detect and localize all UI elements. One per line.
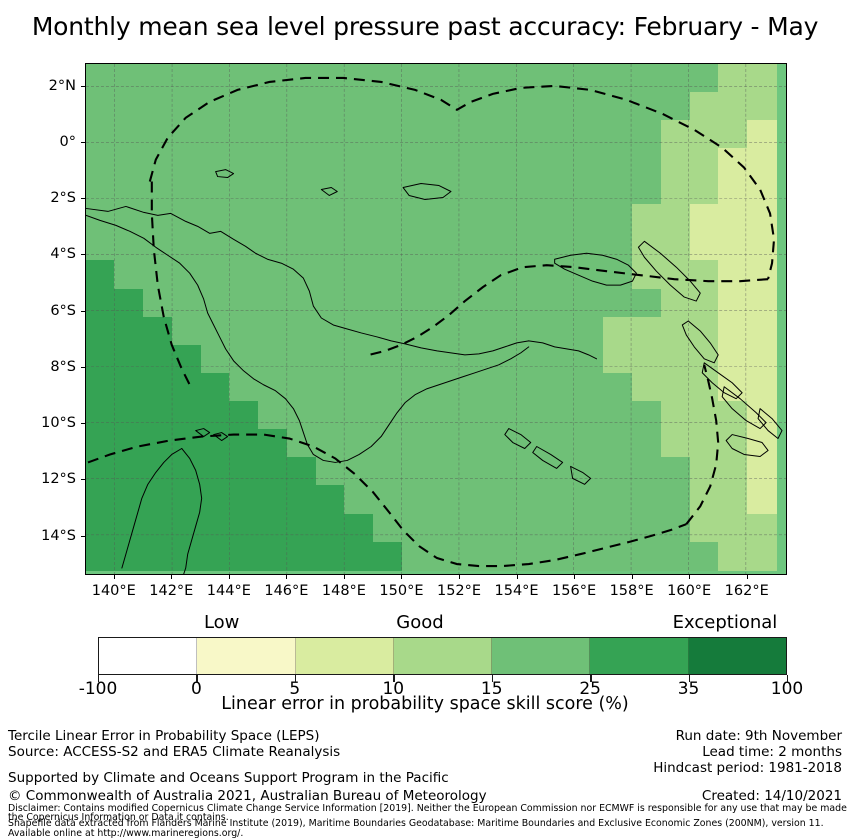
- heatmap-cell: [114, 148, 144, 177]
- heatmap-cell: [344, 429, 374, 458]
- heatmap-cell: [718, 373, 748, 402]
- heatmap-cell: [661, 429, 691, 458]
- heatmap-cell: [460, 429, 490, 458]
- heatmap-cell: [575, 260, 605, 289]
- heatmap-cell: [316, 457, 346, 486]
- x-axis-tick-mark: [286, 575, 287, 579]
- heatmap-cell: [344, 232, 374, 261]
- heatmap-cell: [373, 317, 403, 346]
- heatmap-cell: [402, 260, 432, 289]
- heatmap-cell: [575, 542, 605, 571]
- heatmap-cell: [690, 485, 720, 514]
- y-axis-tick-mark: [81, 536, 85, 537]
- heatmap-cell: [603, 232, 633, 261]
- heatmap-cell: [287, 176, 317, 205]
- x-axis-tick-mark: [114, 575, 115, 579]
- heatmap-cell: [402, 345, 432, 374]
- heatmap-cell: [747, 204, 777, 233]
- heatmap-cell: [690, 373, 720, 402]
- heatmap-cell: [229, 260, 259, 289]
- heatmap-cell: [488, 64, 518, 93]
- heatmap-cell: [143, 120, 173, 149]
- heatmap-cell: [661, 542, 691, 571]
- heatmap-cell: [747, 232, 777, 261]
- heatmap-cell: [373, 120, 403, 149]
- heatmap-cell: [229, 289, 259, 318]
- heatmap-cell: [546, 232, 576, 261]
- heatmap-cell: [460, 345, 490, 374]
- heatmap-cell: [402, 289, 432, 318]
- heatmap-cell: [431, 401, 461, 430]
- heatmap-cell: [229, 514, 259, 543]
- heatmap-cell: [460, 260, 490, 289]
- heatmap-cell: [488, 120, 518, 149]
- heatmap-cell: [201, 176, 231, 205]
- heatmap-cell: [287, 317, 317, 346]
- heatmap-cell: [86, 204, 116, 233]
- heatmap-cell: [460, 232, 490, 261]
- heatmap-cell: [575, 148, 605, 177]
- heatmap-cell: [114, 429, 144, 458]
- heatmap-cell: [431, 317, 461, 346]
- heatmap-cell: [517, 542, 547, 571]
- y-axis-tick-label: 8°S: [12, 359, 76, 375]
- heatmap-cell: [460, 289, 490, 318]
- heatmap-cell: [460, 514, 490, 543]
- heatmap-cell: [747, 289, 777, 318]
- heatmap-cell: [603, 92, 633, 121]
- heatmap-cell: [603, 542, 633, 571]
- heatmap-cell: [747, 401, 777, 430]
- heatmap-cell: [344, 92, 374, 121]
- heatmap-cell: [661, 317, 691, 346]
- heatmap-cell: [575, 429, 605, 458]
- footer-run-date: Run date: 9th November: [676, 728, 842, 744]
- heatmap-cell: [488, 429, 518, 458]
- heatmap-cell: [690, 514, 720, 543]
- heatmap-cell: [546, 289, 576, 318]
- colorbar-segment[interactable]: [99, 638, 197, 674]
- heatmap-cell: [402, 176, 432, 205]
- heatmap-cell: [143, 485, 173, 514]
- heatmap-cell: [172, 289, 202, 318]
- heatmap-cell: [488, 401, 518, 430]
- heatmap-cell: [316, 92, 346, 121]
- heatmap-cell: [517, 373, 547, 402]
- heatmap-cell: [172, 260, 202, 289]
- footer-source: Source: ACCESS-S2 and ERA5 Climate Reana…: [8, 744, 340, 760]
- heatmap-cell: [718, 232, 748, 261]
- heatmap-cell: [575, 401, 605, 430]
- heatmap-cell: [316, 120, 346, 149]
- heatmap-cell: [114, 485, 144, 514]
- heatmap-cell: [287, 148, 317, 177]
- heatmap-cell: [114, 317, 144, 346]
- heatmap-cell: [114, 64, 144, 93]
- heatmap-cell: [661, 485, 691, 514]
- heatmap-cell: [287, 92, 317, 121]
- heatmap-cell: [287, 232, 317, 261]
- heatmap-cell: [690, 401, 720, 430]
- heatmap-cell: [373, 260, 403, 289]
- heatmap-cell: [546, 120, 576, 149]
- heatmap-cell: [316, 485, 346, 514]
- colorbar-tick-mark: [196, 675, 197, 682]
- heatmap-cell: [143, 457, 173, 486]
- heatmap-cell: [718, 64, 748, 93]
- heatmap-cell: [402, 204, 432, 233]
- heatmap-cell: [690, 204, 720, 233]
- heatmap-cell: [201, 345, 231, 374]
- heatmap-cell: [402, 92, 432, 121]
- heatmap-cell: [402, 373, 432, 402]
- heatmap-cell: [488, 345, 518, 374]
- heatmap-cell: [603, 373, 633, 402]
- heatmap-cell: [661, 514, 691, 543]
- heatmap-cell: [603, 485, 633, 514]
- colorbar-segment[interactable]: [492, 638, 590, 674]
- heatmap-cell: [690, 92, 720, 121]
- colorbar-segment[interactable]: [590, 638, 688, 674]
- heatmap-cell: [373, 92, 403, 121]
- heatmap-cell: [201, 373, 231, 402]
- heatmap-cell: [258, 232, 288, 261]
- heatmap-cell: [603, 514, 633, 543]
- heatmap-cell: [603, 64, 633, 93]
- heatmap-cell: [575, 345, 605, 374]
- heatmap-cell: [488, 289, 518, 318]
- y-axis-tick-mark: [81, 367, 85, 368]
- heatmap-cell: [373, 373, 403, 402]
- heatmap-cell: [546, 260, 576, 289]
- heatmap-cell: [229, 401, 259, 430]
- heatmap-cell: [546, 514, 576, 543]
- heatmap-cell: [402, 429, 432, 458]
- colorbar-tick-mark: [393, 675, 394, 682]
- heatmap-cell: [114, 92, 144, 121]
- heatmap-cell: [603, 345, 633, 374]
- heatmap-cell: [661, 120, 691, 149]
- heatmap-cell: [632, 373, 662, 402]
- heatmap-cell: [201, 457, 231, 486]
- heatmap-cell: [517, 232, 547, 261]
- heatmap-cell: [431, 232, 461, 261]
- heatmap-cell: [114, 401, 144, 430]
- footer-support: Supported by Climate and Oceans Support …: [8, 770, 449, 786]
- heatmap-cell: [344, 204, 374, 233]
- heatmap-cell: [86, 92, 116, 121]
- y-axis-tick-mark: [81, 423, 85, 424]
- heatmap-cell: [575, 457, 605, 486]
- heatmap-cell: [316, 148, 346, 177]
- heatmap-cell: [546, 317, 576, 346]
- heatmap-cell: [603, 260, 633, 289]
- colorbar[interactable]: [98, 637, 787, 675]
- y-axis-tick-mark: [81, 311, 85, 312]
- heatmap-cell: [287, 429, 317, 458]
- heatmap-cell: [86, 148, 116, 177]
- heatmap-cell: [632, 64, 662, 93]
- heatmap-cell: [690, 457, 720, 486]
- y-axis-tick-label: 2°N: [12, 78, 76, 94]
- heatmap-cell: [575, 232, 605, 261]
- y-axis-tick-mark: [81, 198, 85, 199]
- heatmap-cell: [143, 317, 173, 346]
- heatmap-cell: [373, 289, 403, 318]
- heatmap-cell: [603, 429, 633, 458]
- heatmap-cell: [747, 176, 777, 205]
- heatmap-cell: [460, 120, 490, 149]
- heatmap-cell: [718, 289, 748, 318]
- heatmap-cell: [201, 92, 231, 121]
- heatmap-cell: [229, 457, 259, 486]
- heatmap-cell: [258, 64, 288, 93]
- heatmap-cell: [632, 317, 662, 346]
- heatmap-cell: [201, 148, 231, 177]
- x-axis-tick-mark: [344, 575, 345, 579]
- heatmap-cell: [373, 64, 403, 93]
- heatmap-cell: [373, 485, 403, 514]
- colorbar-quality-label: Exceptional: [673, 612, 778, 633]
- heatmap-cell: [229, 485, 259, 514]
- heatmap-cell: [632, 457, 662, 486]
- x-axis-tick-label: 144°E: [207, 583, 251, 599]
- heatmap-cell: [488, 204, 518, 233]
- heatmap-cell: [747, 120, 777, 149]
- heatmap-cell: [488, 232, 518, 261]
- heatmap-cell: [632, 542, 662, 571]
- heatmap-cell: [229, 345, 259, 374]
- heatmap-cell: [229, 232, 259, 261]
- heatmap-cell: [287, 289, 317, 318]
- heatmap-cell: [661, 260, 691, 289]
- heatmap-cell: [114, 204, 144, 233]
- heatmap-cell: [718, 317, 748, 346]
- heatmap-cell: [143, 204, 173, 233]
- heatmap-cell: [143, 289, 173, 318]
- heatmap-cell: [747, 542, 777, 571]
- heatmap-cell: [546, 373, 576, 402]
- heatmap-cell: [460, 373, 490, 402]
- heatmap-cell: [747, 260, 777, 289]
- heatmap-cell: [747, 485, 777, 514]
- heatmap-cell: [172, 485, 202, 514]
- heatmap-cell: [258, 260, 288, 289]
- heatmap-cell: [718, 485, 748, 514]
- heatmap-cell: [287, 485, 317, 514]
- heatmap-cell: [316, 373, 346, 402]
- y-axis-tick-mark: [81, 479, 85, 480]
- heatmap-cell: [431, 260, 461, 289]
- heatmap-cell: [690, 120, 720, 149]
- heatmap-cell: [201, 317, 231, 346]
- heatmap-cell: [201, 401, 231, 430]
- heatmap-cell: [172, 92, 202, 121]
- heatmap-cell: [488, 457, 518, 486]
- heatmap-cell: [546, 457, 576, 486]
- x-axis-tick-label: 156°E: [552, 583, 596, 599]
- heatmap-cell: [287, 64, 317, 93]
- heatmap-cell: [603, 317, 633, 346]
- heatmap-cell: [431, 345, 461, 374]
- heatmap-cell: [172, 120, 202, 149]
- heatmap-cell: [460, 176, 490, 205]
- heatmap-cell: [517, 92, 547, 121]
- heatmap-cell: [258, 457, 288, 486]
- heatmap-cell: [575, 373, 605, 402]
- heatmap-cell: [373, 429, 403, 458]
- heatmap-cell: [546, 148, 576, 177]
- heatmap-cell: [460, 204, 490, 233]
- heatmap-cell: [460, 457, 490, 486]
- heatmap-cell: [373, 204, 403, 233]
- heatmap-cell: [661, 232, 691, 261]
- heatmap-cell: [632, 401, 662, 430]
- heatmap-cell: [546, 204, 576, 233]
- colorbar-segment[interactable]: [394, 638, 492, 674]
- heatmap-cell: [690, 317, 720, 346]
- heatmap-cell: [402, 485, 432, 514]
- heatmap-cell: [460, 148, 490, 177]
- heatmap-cell: [287, 345, 317, 374]
- y-axis-tick-label: 2°S: [12, 190, 76, 206]
- heatmap-cell: [201, 289, 231, 318]
- heatmap-cell: [517, 120, 547, 149]
- colorbar-title: Linear error in probability space skill …: [0, 694, 850, 714]
- heatmap-cell: [86, 260, 116, 289]
- heatmap-cell: [488, 148, 518, 177]
- heatmap-cell: [201, 485, 231, 514]
- heatmap-cell: [344, 120, 374, 149]
- heatmap-cell: [316, 514, 346, 543]
- heatmap-cell: [402, 317, 432, 346]
- x-axis-tick-label: 148°E: [322, 583, 366, 599]
- heatmap-cell: [575, 92, 605, 121]
- heatmap-cell: [546, 429, 576, 458]
- heatmap-cell: [546, 176, 576, 205]
- heatmap-cell: [201, 429, 231, 458]
- page-title: Monthly mean sea level pressure past acc…: [0, 12, 850, 41]
- heatmap-cell: [258, 120, 288, 149]
- y-axis-tick-label: 12°S: [12, 471, 76, 487]
- heatmap-cell: [114, 457, 144, 486]
- heatmap-cell: [603, 204, 633, 233]
- colorbar-segment[interactable]: [296, 638, 394, 674]
- heatmap-cell: [172, 148, 202, 177]
- heatmap-cell: [172, 345, 202, 374]
- heatmap-cell: [287, 514, 317, 543]
- heatmap-cell: [460, 317, 490, 346]
- x-axis-tick-mark: [401, 575, 402, 579]
- x-axis-tick-label: 160°E: [667, 583, 711, 599]
- heatmap-cell: [690, 232, 720, 261]
- colorbar-segment[interactable]: [197, 638, 295, 674]
- heatmap-cell: [718, 514, 748, 543]
- heatmap-cell: [258, 514, 288, 543]
- heatmap-cell: [517, 514, 547, 543]
- heatmap-cell: [575, 317, 605, 346]
- heatmap-cell: [287, 120, 317, 149]
- x-axis-tick-mark: [689, 575, 690, 579]
- heatmap-cell: [661, 92, 691, 121]
- heatmap-cell: [690, 260, 720, 289]
- heatmap-cell: [201, 542, 231, 571]
- heatmap-cell: [114, 542, 144, 571]
- heatmap-cell: [632, 148, 662, 177]
- heatmap-cell: [632, 232, 662, 261]
- x-axis-tick-mark: [747, 575, 748, 579]
- x-axis-tick-label: 146°E: [264, 583, 308, 599]
- heatmap-cell: [229, 120, 259, 149]
- heatmap-cell: [632, 429, 662, 458]
- heatmap-cell: [86, 457, 116, 486]
- heatmap-cell: [229, 542, 259, 571]
- heatmap-cell: [344, 485, 374, 514]
- heatmap-cell: [517, 204, 547, 233]
- heatmap-cell: [431, 429, 461, 458]
- heatmap-cell: [316, 345, 346, 374]
- heatmap-cell: [143, 542, 173, 571]
- heatmap-cell: [747, 64, 777, 93]
- colorbar-tick-mark: [590, 675, 591, 682]
- heatmap-cell: [86, 232, 116, 261]
- heatmap-cell: [575, 485, 605, 514]
- heatmap-cell: [575, 204, 605, 233]
- heatmap-cell: [488, 485, 518, 514]
- heatmap-cell: [344, 317, 374, 346]
- heatmap-cell: [747, 457, 777, 486]
- x-axis-tick-mark: [632, 575, 633, 579]
- heatmap-cell: [172, 176, 202, 205]
- heatmap-cell: [86, 514, 116, 543]
- heatmap-cell: [603, 120, 633, 149]
- heatmap-cell: [344, 542, 374, 571]
- heatmap-cell: [258, 429, 288, 458]
- heatmap-cell: [316, 204, 346, 233]
- colorbar-segment[interactable]: [689, 638, 786, 674]
- heatmap-cell: [172, 542, 202, 571]
- heatmap-cell: [718, 457, 748, 486]
- heatmap-cell: [402, 64, 432, 93]
- heatmap-cell: [258, 317, 288, 346]
- heatmap-cell: [344, 345, 374, 374]
- heatmap-cell: [114, 345, 144, 374]
- y-axis-tick-label: 0°: [12, 134, 76, 150]
- heatmap-cell: [431, 457, 461, 486]
- heatmap-cell: [718, 148, 748, 177]
- heatmap-cell: [661, 401, 691, 430]
- heatmap-cell: [603, 176, 633, 205]
- heatmap-cell: [718, 176, 748, 205]
- heatmap-cell: [316, 401, 346, 430]
- x-axis-tick-mark: [171, 575, 172, 579]
- heatmap-cell: [747, 373, 777, 402]
- heatmap-cell: [690, 148, 720, 177]
- y-axis-tick-label: 10°S: [12, 415, 76, 431]
- heatmap-cell: [603, 148, 633, 177]
- heatmap-cell: [316, 542, 346, 571]
- heatmap-cell: [344, 260, 374, 289]
- heatmap-cell: [229, 148, 259, 177]
- footer-disclaimer-line4: Available online at http://www.marinereg…: [8, 828, 243, 839]
- heatmap-cell: [316, 64, 346, 93]
- heatmap-cell: [258, 401, 288, 430]
- y-axis-tick-label: 6°S: [12, 303, 76, 319]
- colorbar-tick-mark: [98, 675, 99, 682]
- heatmap-cell: [431, 204, 461, 233]
- y-axis-tick-label: 14°S: [12, 528, 76, 544]
- heatmap-cell: [316, 260, 346, 289]
